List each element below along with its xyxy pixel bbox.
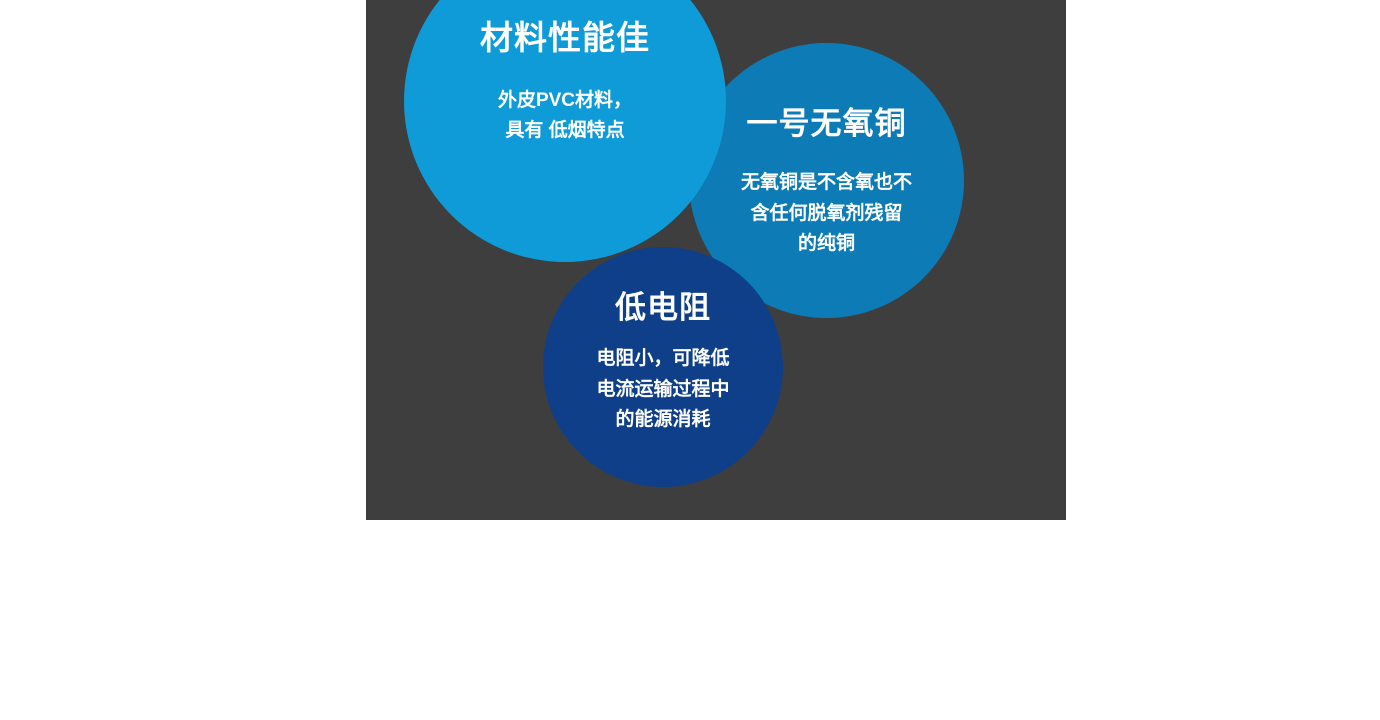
- circle-material[interactable]: 材料性能佳 外皮PVC材料， 具有 低烟特点: [404, 0, 726, 262]
- circle-copper-body: 无氧铜是不含氧也不 含任何脱氧剂残留 的纯铜: [689, 168, 964, 259]
- circle-resistance-content: 低电阻 电阻小，可降低 电流运输过程中 的能源消耗: [543, 289, 783, 435]
- circle-copper-content: 一号无氧铜 无氧铜是不含氧也不 含任何脱氧剂残留 的纯铜: [689, 105, 964, 259]
- circle-material-body-line-1: 外皮PVC材料，: [404, 86, 726, 116]
- circle-copper-body-line-3: 的纯铜: [717, 229, 936, 259]
- circle-copper-body-line-1: 无氧铜是不含氧也不: [717, 168, 936, 198]
- slide-panel: 一号无氧铜 无氧铜是不含氧也不 含任何脱氧剂残留 的纯铜 材料性能佳 外皮PVC…: [366, 0, 1066, 520]
- circle-resistance[interactable]: 低电阻 电阻小，可降低 电流运输过程中 的能源消耗: [543, 247, 783, 487]
- circle-resistance-body-line-3: 的能源消耗: [565, 405, 761, 435]
- circle-material-body-line-2: 具有 低烟特点: [404, 116, 726, 146]
- circle-resistance-body: 电阻小，可降低 电流运输过程中 的能源消耗: [543, 344, 783, 435]
- circle-material-content: 材料性能佳 外皮PVC材料， 具有 低烟特点: [404, 18, 726, 146]
- circle-material-body: 外皮PVC材料， 具有 低烟特点: [404, 86, 726, 147]
- circle-resistance-body-line-1: 电阻小，可降低: [565, 344, 761, 374]
- circle-resistance-title: 低电阻: [543, 289, 783, 326]
- circle-material-title: 材料性能佳: [404, 18, 726, 58]
- circle-resistance-body-line-2: 电流运输过程中: [565, 375, 761, 405]
- circle-copper-title: 一号无氧铜: [689, 105, 964, 142]
- circle-copper-body-line-2: 含任何脱氧剂残留: [717, 199, 936, 229]
